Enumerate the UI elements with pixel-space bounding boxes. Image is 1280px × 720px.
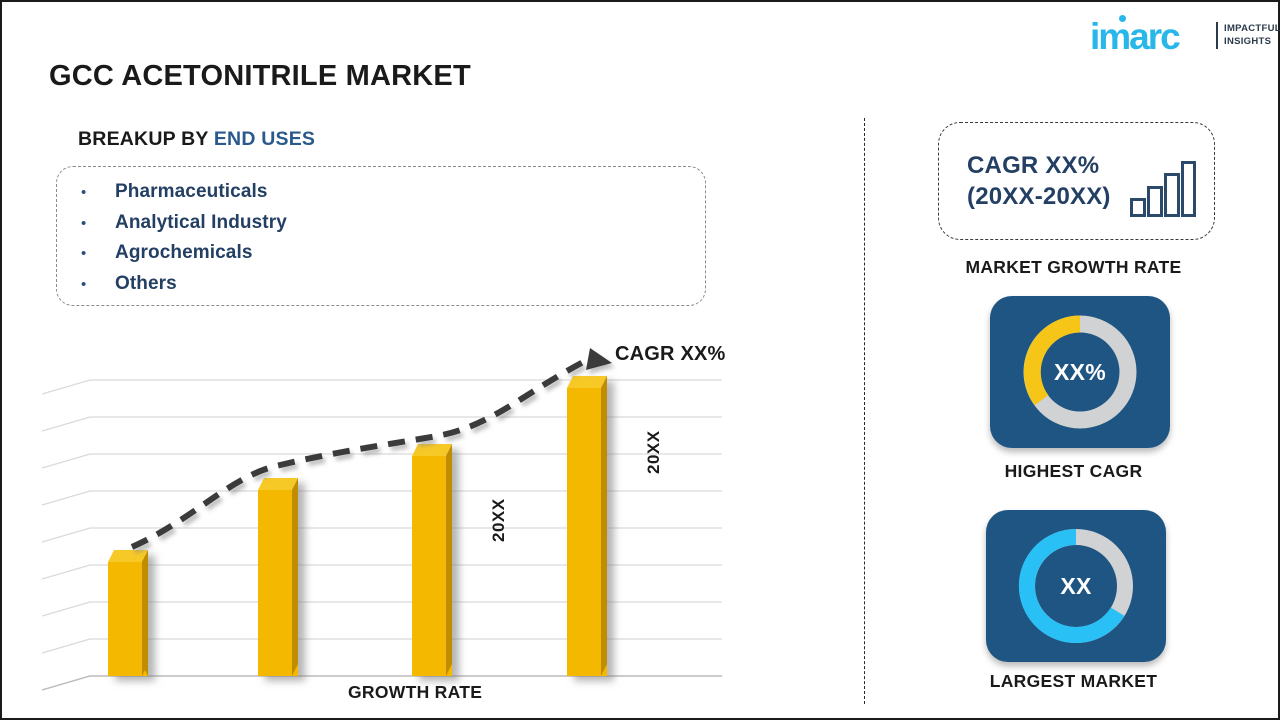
list-item[interactable]: • Agrochemicals — [81, 242, 705, 273]
cagr-card-text: CAGR XX% (20XX-20XX) — [967, 150, 1111, 212]
vertical-divider — [864, 118, 865, 704]
bar-chart-icon — [1130, 161, 1196, 222]
slide-canvas: imarc IMPACTFUL INSIGHTS GCC ACETONITRIL… — [0, 0, 1280, 720]
cagr-value: CAGR XX% — [967, 150, 1111, 181]
logo-tagline-line1: IMPACTFUL — [1224, 23, 1280, 36]
logo-tagline-line2: INSIGHTS — [1224, 36, 1280, 49]
bar-4[interactable] — [567, 376, 607, 676]
list-item[interactable]: • Others — [81, 273, 705, 304]
list-item[interactable]: • Pharmaceuticals — [81, 181, 705, 212]
bar-3[interactable] — [412, 444, 452, 676]
subtitle-highlight: END USES — [214, 128, 315, 150]
largest-market-value: XX — [986, 510, 1166, 662]
growth-bar-chart: 20XX 20XX — [42, 332, 802, 712]
cagr-period: (20XX-20XX) — [967, 181, 1111, 212]
chart-svg — [42, 332, 802, 712]
bullet-icon: • — [81, 185, 115, 200]
highest-cagr-card[interactable]: XX% — [990, 296, 1170, 448]
list-item-label: Others — [115, 273, 177, 295]
market-growth-rate-label: MARKET GROWTH RATE — [865, 257, 1280, 278]
chart-cagr-annotation: CAGR XX% — [615, 343, 726, 366]
bar-label-4: 20XX — [644, 430, 664, 474]
bullet-icon: • — [81, 246, 115, 261]
page-title: GCC ACETONITRILE MARKET — [49, 60, 471, 93]
largest-market-label: LARGEST MARKET — [865, 671, 1280, 692]
bar-1[interactable] — [108, 550, 148, 676]
list-item-label: Agrochemicals — [115, 242, 253, 264]
list-item-label: Pharmaceuticals — [115, 181, 268, 203]
market-growth-rate-card[interactable]: CAGR XX% (20XX-20XX) — [938, 122, 1215, 240]
largest-market-card[interactable]: XX — [986, 510, 1166, 662]
highest-cagr-value: XX% — [990, 296, 1170, 448]
list-item-label: Analytical Industry — [115, 212, 287, 234]
bar-2[interactable] — [258, 478, 298, 676]
trend-arrow-icon — [586, 348, 612, 370]
bullet-icon: • — [81, 277, 115, 292]
trend-line — [132, 348, 612, 547]
logo-divider — [1216, 22, 1218, 49]
highest-cagr-label: HIGHEST CAGR — [865, 461, 1280, 482]
logo-tagline: IMPACTFUL INSIGHTS — [1224, 23, 1280, 48]
chart-axis-title: GROWTH RATE — [348, 682, 482, 703]
section-subtitle: BREAKUP BY END USES — [78, 128, 315, 151]
subtitle-prefix: BREAKUP BY — [78, 128, 214, 150]
end-uses-list: • Pharmaceuticals • Analytical Industry … — [56, 166, 706, 306]
bar-label-3: 20XX — [489, 498, 509, 542]
imarc-logo: imarc IMPACTFUL INSIGHTS — [1090, 14, 1274, 56]
list-item[interactable]: • Analytical Industry — [81, 212, 705, 243]
logo-wordmark: imarc — [1090, 18, 1179, 55]
bullet-icon: • — [81, 216, 115, 231]
